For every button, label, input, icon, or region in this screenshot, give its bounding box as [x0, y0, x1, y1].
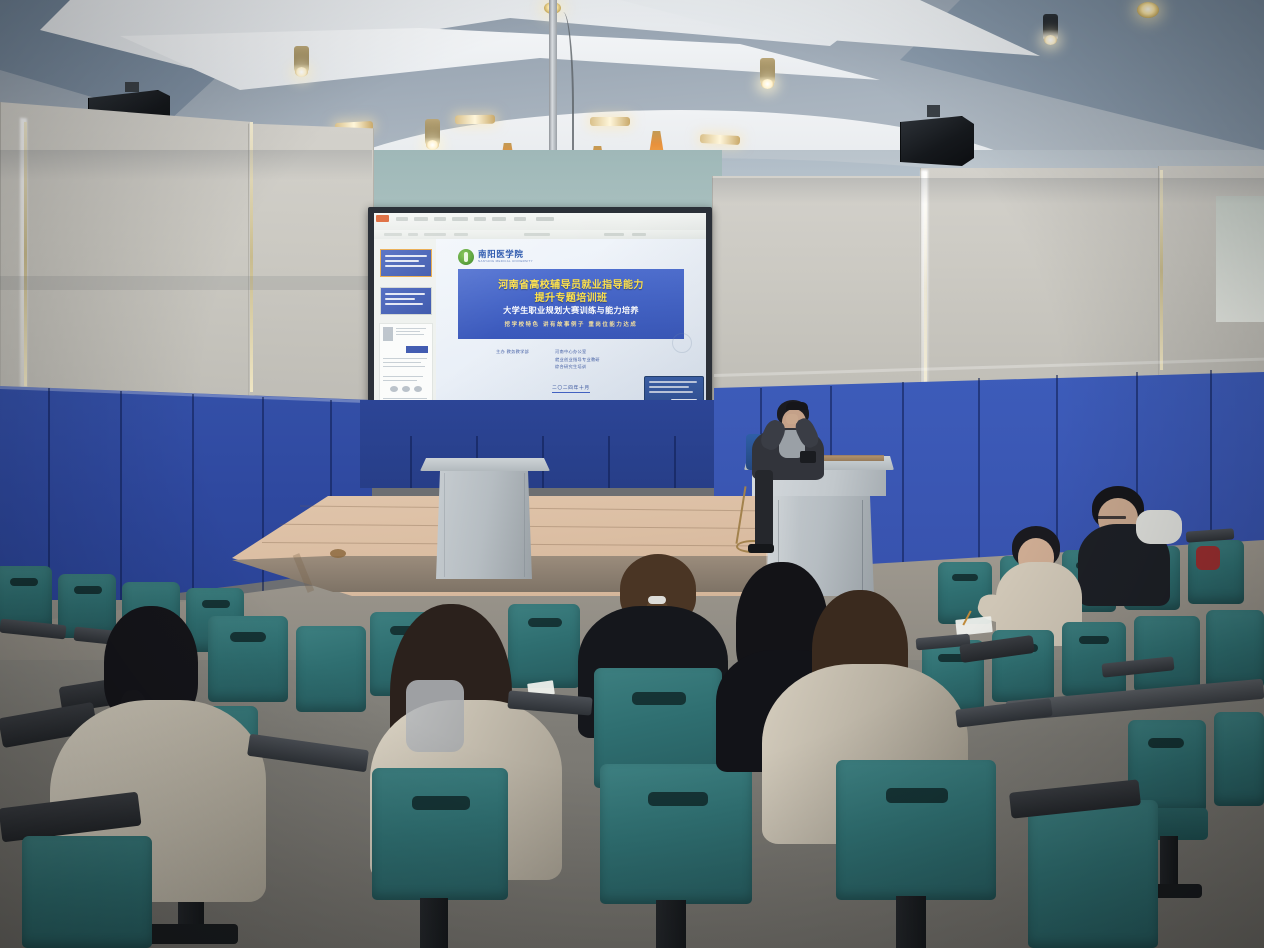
presenter-hand	[786, 414, 798, 424]
seat-handle	[10, 578, 38, 586]
seat-back[interactable]	[208, 616, 288, 702]
wall-seam-r3	[902, 382, 904, 582]
glasses	[1096, 516, 1126, 519]
seat-back[interactable]	[1206, 610, 1264, 688]
downlight-1	[1137, 2, 1159, 18]
cylinder-light-2	[425, 119, 440, 145]
wall-panel-center	[360, 400, 720, 488]
window-daylight	[1216, 196, 1264, 322]
wall-seam-c1	[410, 436, 412, 488]
logo-chinese-name: 南阳医学院	[478, 251, 533, 260]
recessed-light-3	[590, 117, 630, 126]
wall-seam-l3	[192, 394, 194, 602]
hair-tie	[648, 596, 666, 604]
wall-seam-c4	[608, 436, 610, 488]
organizer-right-1: 就业创业指导专业教研	[555, 357, 600, 363]
seat-handle	[528, 618, 562, 627]
organizer-left-column: 主办 教务教学部	[496, 349, 529, 370]
slide-tagline: 挖学校特色 讲有故事例子 重岗位能力达成	[505, 320, 638, 328]
red-bag	[1196, 546, 1220, 570]
seat-back[interactable]	[508, 604, 580, 688]
slide-thumbnail-1[interactable]	[380, 249, 432, 277]
seat-handle	[632, 692, 686, 705]
seat-back[interactable]	[22, 836, 152, 948]
slide-title-band: 河南省高校辅导员就业指导能力 提升专题培训班 大学生职业规划大赛训练与能力培养 …	[458, 269, 684, 339]
slide-logo: 南阳医学院 NANYANG MEDICAL UNIVERSITY	[458, 245, 684, 269]
roller-blind-right-1	[712, 176, 924, 400]
seat-post	[896, 896, 926, 948]
seat-back[interactable]	[1028, 800, 1158, 948]
slide-watermark	[672, 333, 692, 353]
seat-back[interactable]	[1214, 712, 1264, 806]
university-crest-icon	[458, 249, 474, 265]
organizer-right-column: 河南中心办公室 就业创业指导专业教研 综合研究生培训	[555, 349, 600, 370]
slide-thumbnail-2[interactable]	[380, 287, 432, 315]
seat-back[interactable]	[296, 626, 366, 712]
slide-organizers: 主办 教务教学部 河南中心办公室 就业创业指导专业教研 综合研究生培训	[496, 349, 686, 370]
hood	[1136, 510, 1182, 544]
wall-seam-c5	[674, 436, 676, 488]
seat-handle	[202, 600, 230, 608]
seat-handle	[230, 632, 266, 642]
blind-chain-left-2	[250, 122, 253, 392]
speaker-mount-right	[927, 105, 940, 117]
secondary-podium-top	[420, 458, 550, 471]
seat-handle	[886, 788, 948, 803]
seat-back[interactable]	[836, 760, 996, 900]
slide-subtitle: 大学生职业规划大赛训练与能力培养	[503, 306, 639, 316]
wall-seam-r4	[978, 378, 980, 574]
slide-title-line2: 提升专题培训班	[535, 293, 608, 305]
blind-chain-right-2	[1160, 170, 1163, 370]
speaker-mount-left	[125, 82, 139, 92]
powerpoint-ribbon[interactable]	[374, 213, 706, 231]
stage-object	[330, 549, 346, 558]
presenter-shoe	[748, 544, 774, 553]
recessed-light-2	[455, 115, 495, 125]
seat-post	[420, 898, 448, 948]
wall-seam-r7	[1210, 370, 1212, 552]
slide-thumbnail-pane[interactable]	[374, 239, 437, 415]
seat-handle	[648, 792, 708, 806]
seat-foot	[148, 924, 238, 944]
blind-chain-left	[24, 122, 27, 386]
cylinder-light-3	[760, 58, 775, 84]
file-tab-icon[interactable]	[376, 215, 389, 222]
slide-title-line1: 河南省高校辅导员就业指导能力	[498, 280, 644, 292]
seat-back[interactable]	[372, 768, 508, 900]
document-outline-preview	[379, 323, 433, 411]
seat-back[interactable]	[1062, 622, 1126, 696]
seat-handle	[1079, 636, 1109, 644]
seat-post	[656, 900, 686, 948]
organizer-right-0: 河南中心办公室	[555, 349, 600, 355]
secondary-podium-body	[436, 471, 532, 579]
wall-seam-l2	[120, 391, 122, 607]
cylinder-light-1	[294, 46, 309, 72]
scarf	[406, 680, 464, 752]
presenter-cap	[786, 402, 808, 410]
seat-handle	[412, 796, 470, 810]
cylinder-light-4	[1043, 14, 1058, 40]
seat-handle	[1148, 738, 1184, 748]
roller-blind-left-2	[248, 124, 374, 405]
organizer-right-2: 综合研究生培训	[555, 364, 600, 370]
presenter-device	[800, 451, 816, 463]
ceiling-speaker-right	[900, 116, 976, 168]
logo-english-name: NANYANG MEDICAL UNIVERSITY	[478, 260, 533, 263]
seat-back[interactable]	[600, 764, 752, 904]
seat-handle	[74, 586, 102, 594]
seat-back[interactable]	[1134, 616, 1200, 692]
roller-blind-left-1	[0, 102, 252, 412]
organizer-left-0: 主办 教务教学部	[496, 349, 529, 355]
presenter-leg	[755, 470, 773, 548]
lecture-hall-photo: 南阳医学院 NANYANG MEDICAL UNIVERSITY 河南省高校辅导…	[0, 0, 1264, 948]
seat-handle	[952, 574, 978, 581]
seat-post	[1160, 836, 1178, 888]
